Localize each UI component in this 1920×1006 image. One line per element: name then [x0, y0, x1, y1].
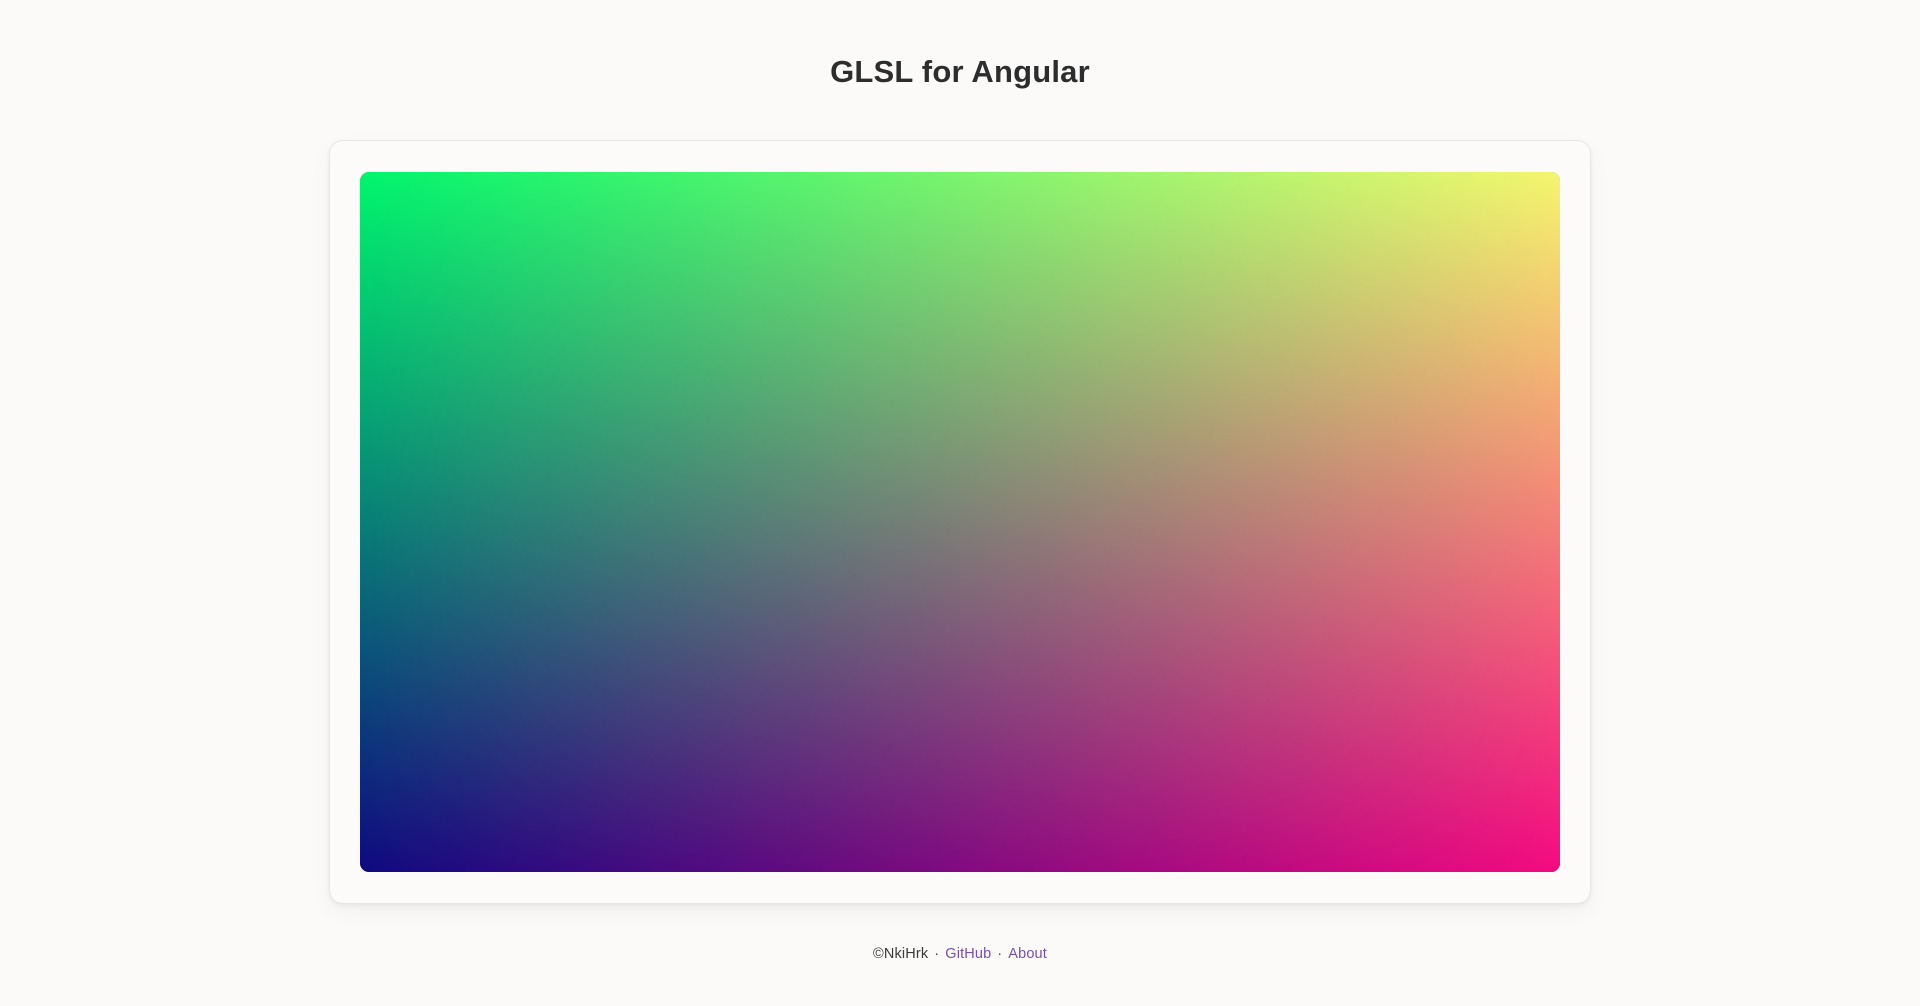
page-root: GLSL for Angular ©NkiHrk · GitHub · Abou… [0, 0, 1920, 1006]
footer-separator-2: · [991, 947, 1008, 962]
footer: ©NkiHrk · GitHub · About [873, 947, 1047, 962]
gradient-layer-right [360, 172, 1560, 872]
footer-separator-1: · [928, 947, 945, 962]
page-title: GLSL for Angular [830, 0, 1090, 87]
footer-link-github[interactable]: GitHub [945, 947, 991, 962]
footer-link-about[interactable]: About [1008, 947, 1047, 962]
footer-copyright: ©NkiHrk [873, 947, 928, 962]
shader-card [329, 140, 1591, 904]
gradient-canvas[interactable] [360, 172, 1560, 872]
